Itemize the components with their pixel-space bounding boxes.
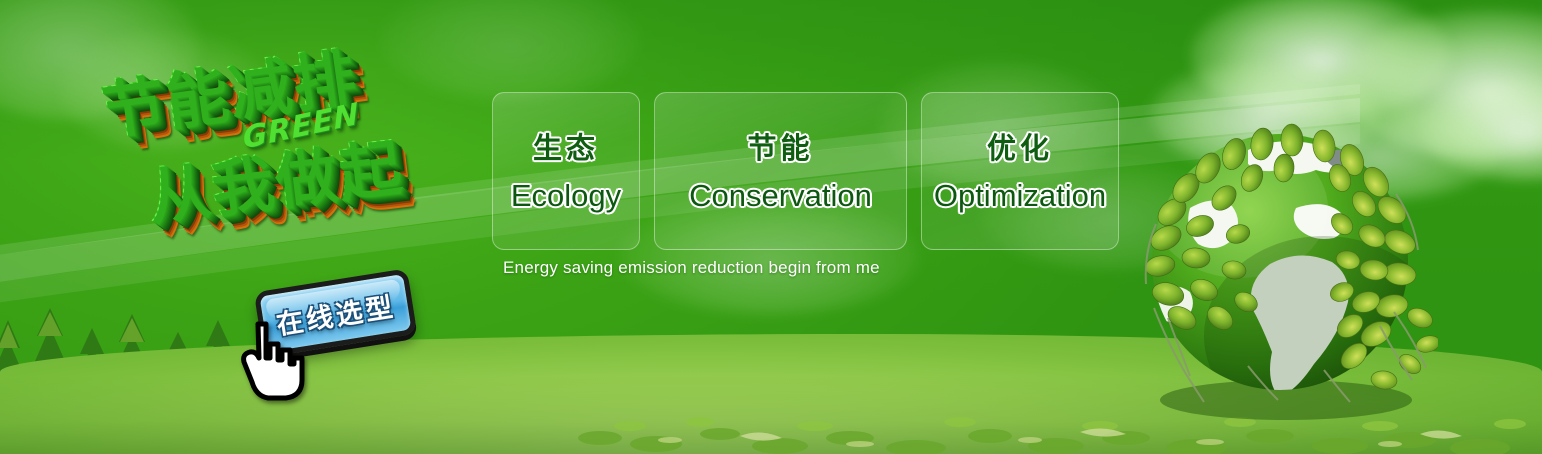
online-selection-button[interactable]: 在线选型: [254, 268, 417, 357]
treeline-decoration: [580, 356, 1010, 402]
feature-card-en-label: Conservation: [689, 178, 872, 214]
green-energy-banner: 节能减排 从我做起 GREEN 在线选型 生态 Ecology 节能 Conse…: [0, 0, 1542, 454]
banner-tagline: Energy saving emission reduction begin f…: [503, 258, 880, 278]
cloud-decoration: [1420, 75, 1542, 180]
cloud-decoration: [1190, 0, 1450, 120]
feature-card-cn-label: 优化: [987, 125, 1053, 167]
feature-card-en-label: Optimization: [934, 178, 1106, 214]
feature-card-en-label: Ecology: [511, 178, 621, 214]
main-title-artwork: 节能减排 从我做起 GREEN: [87, 21, 496, 284]
feature-card-list: 生态 Ecology 节能 Conservation 优化 Optimizati…: [492, 92, 1119, 250]
feature-card-conservation[interactable]: 节能 Conservation: [654, 92, 907, 250]
feature-card-ecology[interactable]: 生态 Ecology: [492, 92, 640, 250]
feature-card-cn-label: 节能: [747, 125, 813, 167]
feature-card-cn-label: 生态: [533, 125, 599, 167]
online-selection-button-label: 在线选型: [254, 268, 417, 357]
leafy-globe-icon: [1128, 112, 1438, 422]
feature-card-optimization[interactable]: 优化 Optimization: [921, 92, 1119, 250]
